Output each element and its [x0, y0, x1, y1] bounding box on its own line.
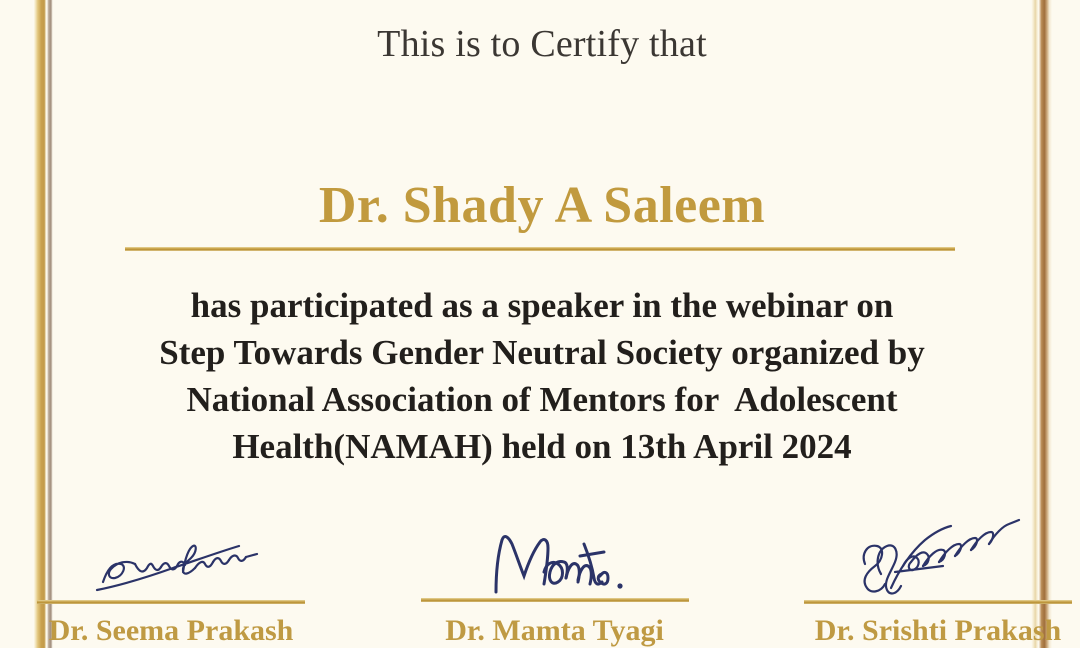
signature-rule	[37, 600, 305, 604]
certify-heading: This is to Certify that	[70, 22, 1014, 66]
certificate-body: has participated as a speaker in the web…	[70, 282, 1014, 470]
certificate: This is to Certify that Dr. Shady A Sale…	[0, 0, 1080, 648]
body-line-1: has participated as a speaker in the web…	[70, 282, 1014, 329]
signature-mark-icon	[804, 506, 1072, 598]
signature-rule	[421, 598, 689, 602]
signature-mark-icon	[421, 518, 689, 596]
signature-row: Dr. Seema Prakash Dr	[37, 500, 1072, 648]
signature-block-srishti-prakash: Dr. Srishti Prakash	[804, 500, 1072, 648]
signatory-name: Dr. Mamta Tyagi	[421, 614, 689, 648]
body-line-4: Health(NAMAH) held on 13th April 2024	[70, 423, 1014, 470]
signatory-name: Dr. Srishti Prakash	[804, 614, 1072, 648]
signature-mark-icon	[37, 518, 305, 596]
signature-block-mamta-tyagi: Dr. Mamta Tyagi	[421, 500, 689, 648]
recipient-name: Dr. Shady A Saleem	[70, 176, 1014, 235]
body-line-2: Step Towards Gender Neutral Society orga…	[70, 329, 1014, 376]
signature-rule	[804, 600, 1072, 604]
body-line-3: National Association of Mentors for Adol…	[70, 376, 1014, 423]
signature-block-seema-prakash: Dr. Seema Prakash	[37, 500, 305, 648]
name-divider-rule	[125, 247, 955, 251]
signatory-name: Dr. Seema Prakash	[37, 614, 305, 648]
